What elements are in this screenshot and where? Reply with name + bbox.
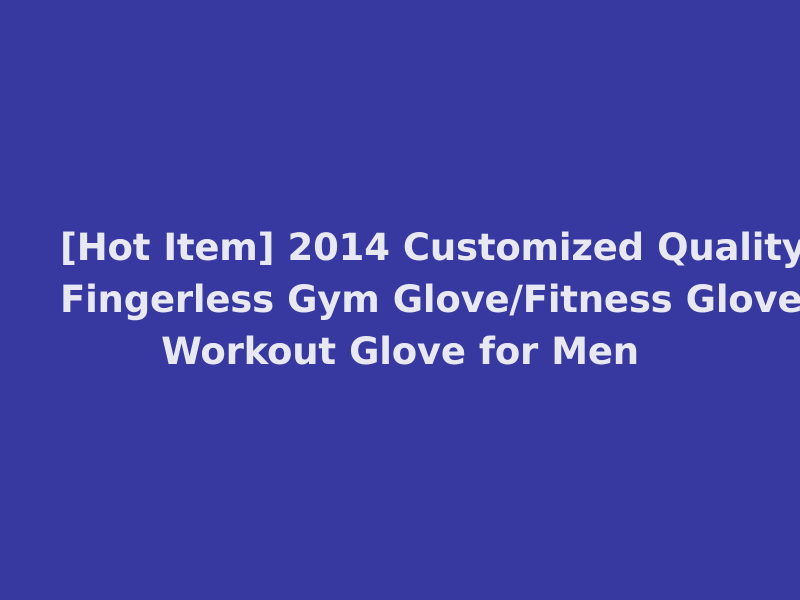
title-line-2: Fingerless Gym Glove/Fitness Glove/ [60,274,740,326]
page-title: [Hot Item] 2014 Customized Quality Finge… [60,222,740,378]
placeholder-image-card: [Hot Item] 2014 Customized Quality Finge… [0,0,800,600]
title-line-1: [Hot Item] 2014 Customized Quality [60,222,740,274]
title-line-3: Workout Glove for Men [60,326,740,378]
